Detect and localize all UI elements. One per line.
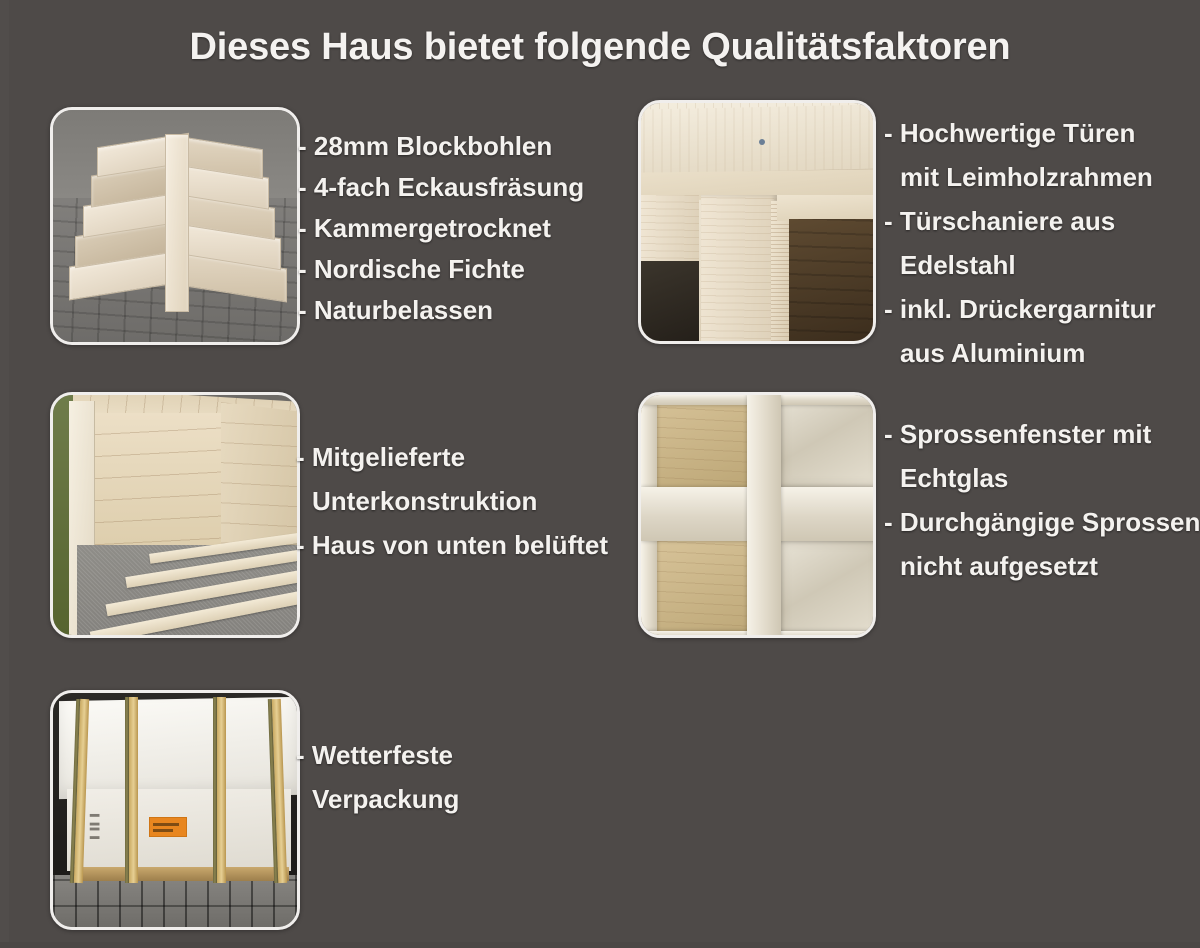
screw-head — [759, 139, 765, 145]
feature-line: nicht aufgesetzt — [884, 544, 1200, 588]
batten-3 — [217, 697, 226, 883]
photo-inner: ▌▐ ▌▐ — [53, 693, 297, 927]
interior-substructure-photo — [50, 392, 300, 638]
photo-inner — [641, 103, 873, 341]
pallet-base — [71, 867, 289, 881]
feature-line: Echtglas — [884, 456, 1200, 500]
feature-line: - Kammergetrocknet — [298, 208, 584, 249]
strap-3 — [213, 697, 217, 883]
pane-top-right — [781, 395, 873, 487]
feature-line: - Durchgängige Sprossen — [884, 500, 1200, 544]
feature-line: - 28mm Blockbohlen — [298, 126, 584, 167]
feature-text-packaging: - Wetterfeste Verpackung — [296, 733, 459, 821]
paving-ground — [53, 875, 297, 927]
label-barcode-line-2 — [153, 829, 173, 832]
feature-line: - Naturbelassen — [298, 290, 584, 331]
feature-line: - Wetterfeste — [296, 733, 459, 777]
feature-line: - inkl. Drückergarnitur — [884, 287, 1156, 331]
feature-line: - 4-fach Eckausfräsung — [298, 167, 584, 208]
feature-text-windows: - Sprossenfenster mit Echtglas - Durchgä… — [884, 412, 1200, 588]
shipping-label — [149, 817, 187, 837]
feature-text-doors: - Hochwertige Türen mit Leimholzrahmen -… — [884, 111, 1156, 375]
strap-2 — [125, 697, 129, 883]
feature-line: Edelstahl — [884, 243, 1156, 287]
bottom-edge-band — [0, 942, 1200, 948]
feature-line: - Sprossenfenster mit — [884, 412, 1200, 456]
corner-post — [165, 134, 189, 312]
opening-right-interior — [789, 219, 873, 341]
door-stile — [771, 201, 791, 341]
frame-block-left — [641, 195, 699, 265]
pane-bottom-right — [781, 541, 873, 635]
pallet-wrap-top — [59, 697, 297, 799]
feature-text-blockbohlen: - 28mm Blockbohlen - 4-fach Eckausfräsun… — [298, 126, 584, 331]
muntin-vertical — [747, 395, 781, 635]
door-panel-center — [701, 195, 777, 341]
opening-lower-left — [641, 261, 699, 341]
feature-line: - Türschaniere aus — [884, 199, 1156, 243]
left-edge-band — [0, 0, 9, 948]
feature-line: - Nordische Fichte — [298, 249, 584, 290]
feature-line: aus Aluminium — [884, 331, 1156, 375]
feature-line: mit Leimholzrahmen — [884, 155, 1156, 199]
back-wall-planks — [77, 413, 225, 563]
weatherproof-packaging-photo: ▌▐ ▌▐ — [50, 690, 300, 930]
feature-line: Verpackung — [296, 777, 459, 821]
wrap-stencil-print: ▌▐ ▌▐ — [91, 814, 99, 839]
lintel-board — [641, 104, 873, 175]
batten-2 — [129, 697, 138, 883]
window-muntin-cross-photo — [638, 392, 876, 638]
page-title: Dieses Haus bietet folgende Qualitätsfak… — [0, 26, 1200, 69]
feature-text-substructure: - Mitgelieferte Unterkonstruktion - Haus… — [296, 435, 608, 567]
feature-line: - Mitgelieferte — [296, 435, 608, 479]
photo-inner — [53, 110, 297, 342]
feature-line: Unterkonstruktion — [296, 479, 608, 523]
feature-line: - Haus von unten belüftet — [296, 523, 608, 567]
door-frame-detail-photo — [638, 100, 876, 344]
label-barcode-line-1 — [153, 823, 179, 826]
photo-inner — [53, 395, 297, 635]
feature-line: - Hochwertige Türen — [884, 111, 1156, 155]
corner-log-beam-joint-photo — [50, 107, 300, 345]
photo-inner — [641, 395, 873, 635]
header-board-right — [777, 195, 873, 221]
